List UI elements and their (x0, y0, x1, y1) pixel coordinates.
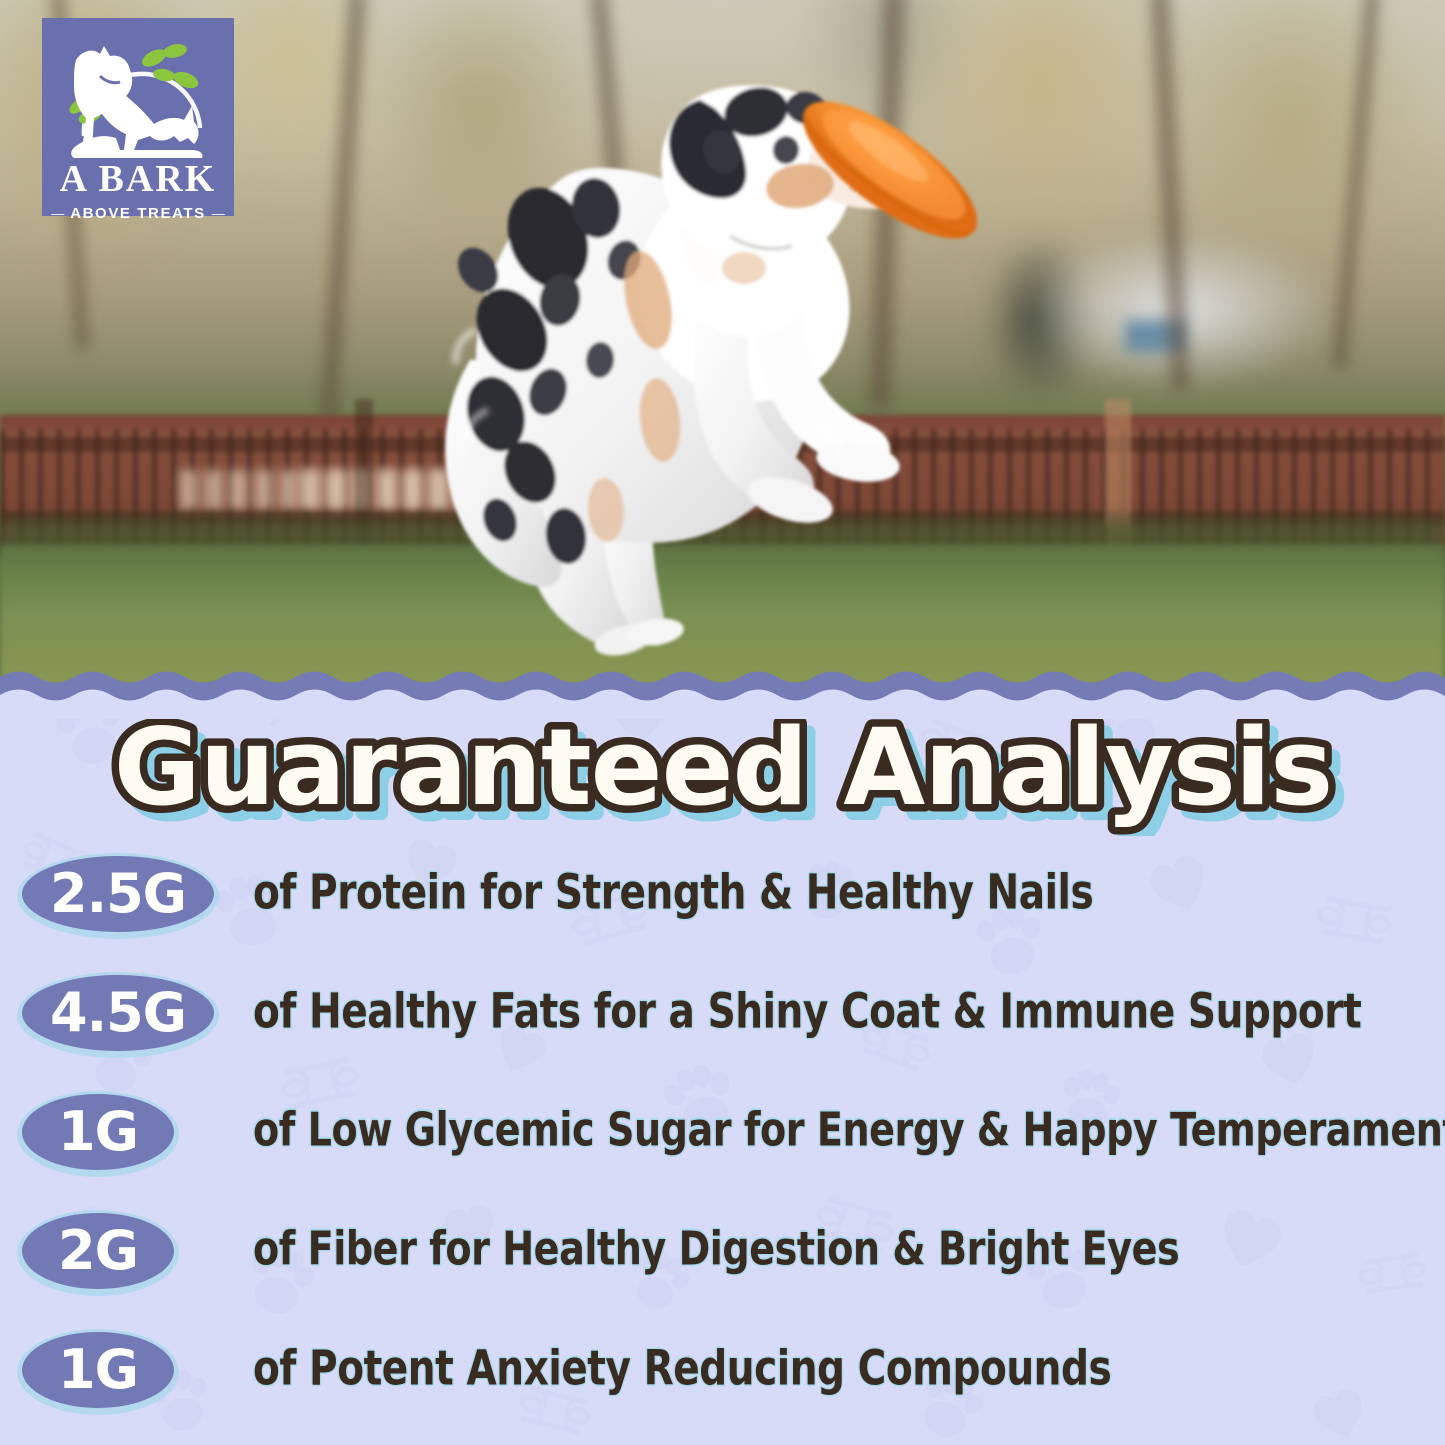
value-badge-text: 4.5G (50, 981, 186, 1044)
value-badge-text: 2.5G (50, 862, 186, 925)
brand-tagline: ABOVE TREATS (70, 205, 206, 222)
value-badge: 4.5G (0, 969, 240, 1069)
value-badge-text: 1G (58, 1100, 138, 1163)
value-badge: 1G (0, 1326, 240, 1426)
wavy-divider (0, 663, 1445, 719)
value-badge-shape: 1G (0, 1088, 250, 1188)
dash-left: — (51, 206, 64, 221)
value-badge-shape: 1G (0, 1326, 250, 1426)
brand-name: A BARK (42, 160, 234, 198)
value-badge-shape: 2.5G (0, 850, 250, 950)
infographic-root: A BARK — ABOVE TREATS — Guaranteed Analy… (0, 0, 1445, 1445)
analysis-row: 2.5Gof Protein for Strength & Healthy Na… (0, 850, 1445, 969)
page-title: Guaranteed Analysis Guaranteed Analysis … (0, 708, 1445, 838)
value-badge: 1G (0, 1088, 240, 1188)
value-badge: 2G (0, 1207, 240, 1307)
analysis-row: 4.5Gof Healthy Fats for a Shiny Coat & I… (0, 969, 1445, 1088)
page-title-art: Guaranteed Analysis Guaranteed Analysis … (58, 708, 1388, 836)
brand-logo[interactable]: A BARK — ABOVE TREATS — (42, 18, 234, 216)
dash-right: — (212, 206, 225, 221)
analysis-row: 1Gof Potent Anxiety Reducing Compounds (0, 1326, 1445, 1445)
analysis-row: 1Gof Low Glycemic Sugar for Energy & Hap… (0, 1088, 1445, 1207)
analysis-rows: 2.5Gof Protein for Strength & Healthy Na… (0, 850, 1445, 1445)
analysis-description: of Healthy Fats for a Shiny Coat & Immun… (253, 983, 1361, 1039)
hero-photo: A BARK — ABOVE TREATS — (0, 0, 1445, 700)
value-badge-text: 1G (58, 1338, 138, 1401)
analysis-description: of Potent Anxiety Reducing Compounds (253, 1340, 1111, 1396)
svg-text:Guaranteed Analysis: Guaranteed Analysis (113, 708, 1331, 829)
analysis-row: 2Gof Fiber for Healthy Digestion & Brigh… (0, 1207, 1445, 1326)
value-badge-text: 2G (58, 1219, 138, 1282)
analysis-description: of Low Glycemic Sugar for Energy & Happy… (253, 1102, 1445, 1157)
value-badge-shape: 2G (0, 1207, 250, 1307)
value-badge: 2.5G (0, 850, 240, 950)
value-badge-shape: 4.5G (0, 969, 250, 1069)
analysis-description: of Fiber for Healthy Digestion & Bright … (253, 1221, 1179, 1276)
analysis-description: of Protein for Strength & Healthy Nails (253, 864, 1093, 920)
guaranteed-analysis-panel: Guaranteed Analysis Guaranteed Analysis … (0, 700, 1445, 1445)
